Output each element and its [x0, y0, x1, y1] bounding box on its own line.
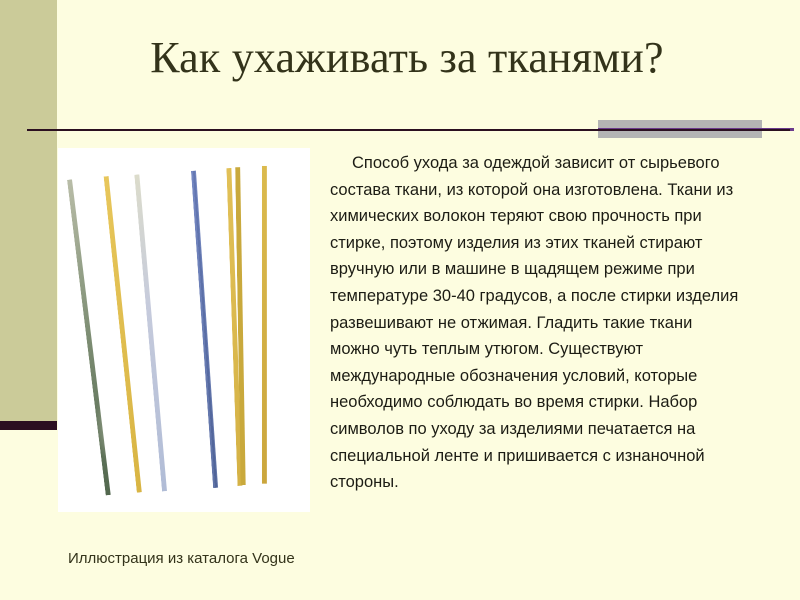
- gold-swatch-right: [262, 166, 304, 484]
- swatch-stack: [78, 166, 290, 494]
- fabric-swatch-image: [58, 148, 310, 512]
- slide-canvas: Как ухаживать за тканями? Иллюстрация из…: [0, 0, 800, 600]
- body-paragraph: Способ ухода за одеждой зависит от сырье…: [330, 150, 744, 496]
- title-divider-line: [27, 129, 790, 131]
- figure-caption: Иллюстрация из каталога Vogue: [68, 550, 295, 567]
- left-accent-band-cap: [0, 421, 57, 430]
- left-accent-band: [0, 0, 57, 422]
- page-title: Как ухаживать за тканями?: [57, 34, 757, 82]
